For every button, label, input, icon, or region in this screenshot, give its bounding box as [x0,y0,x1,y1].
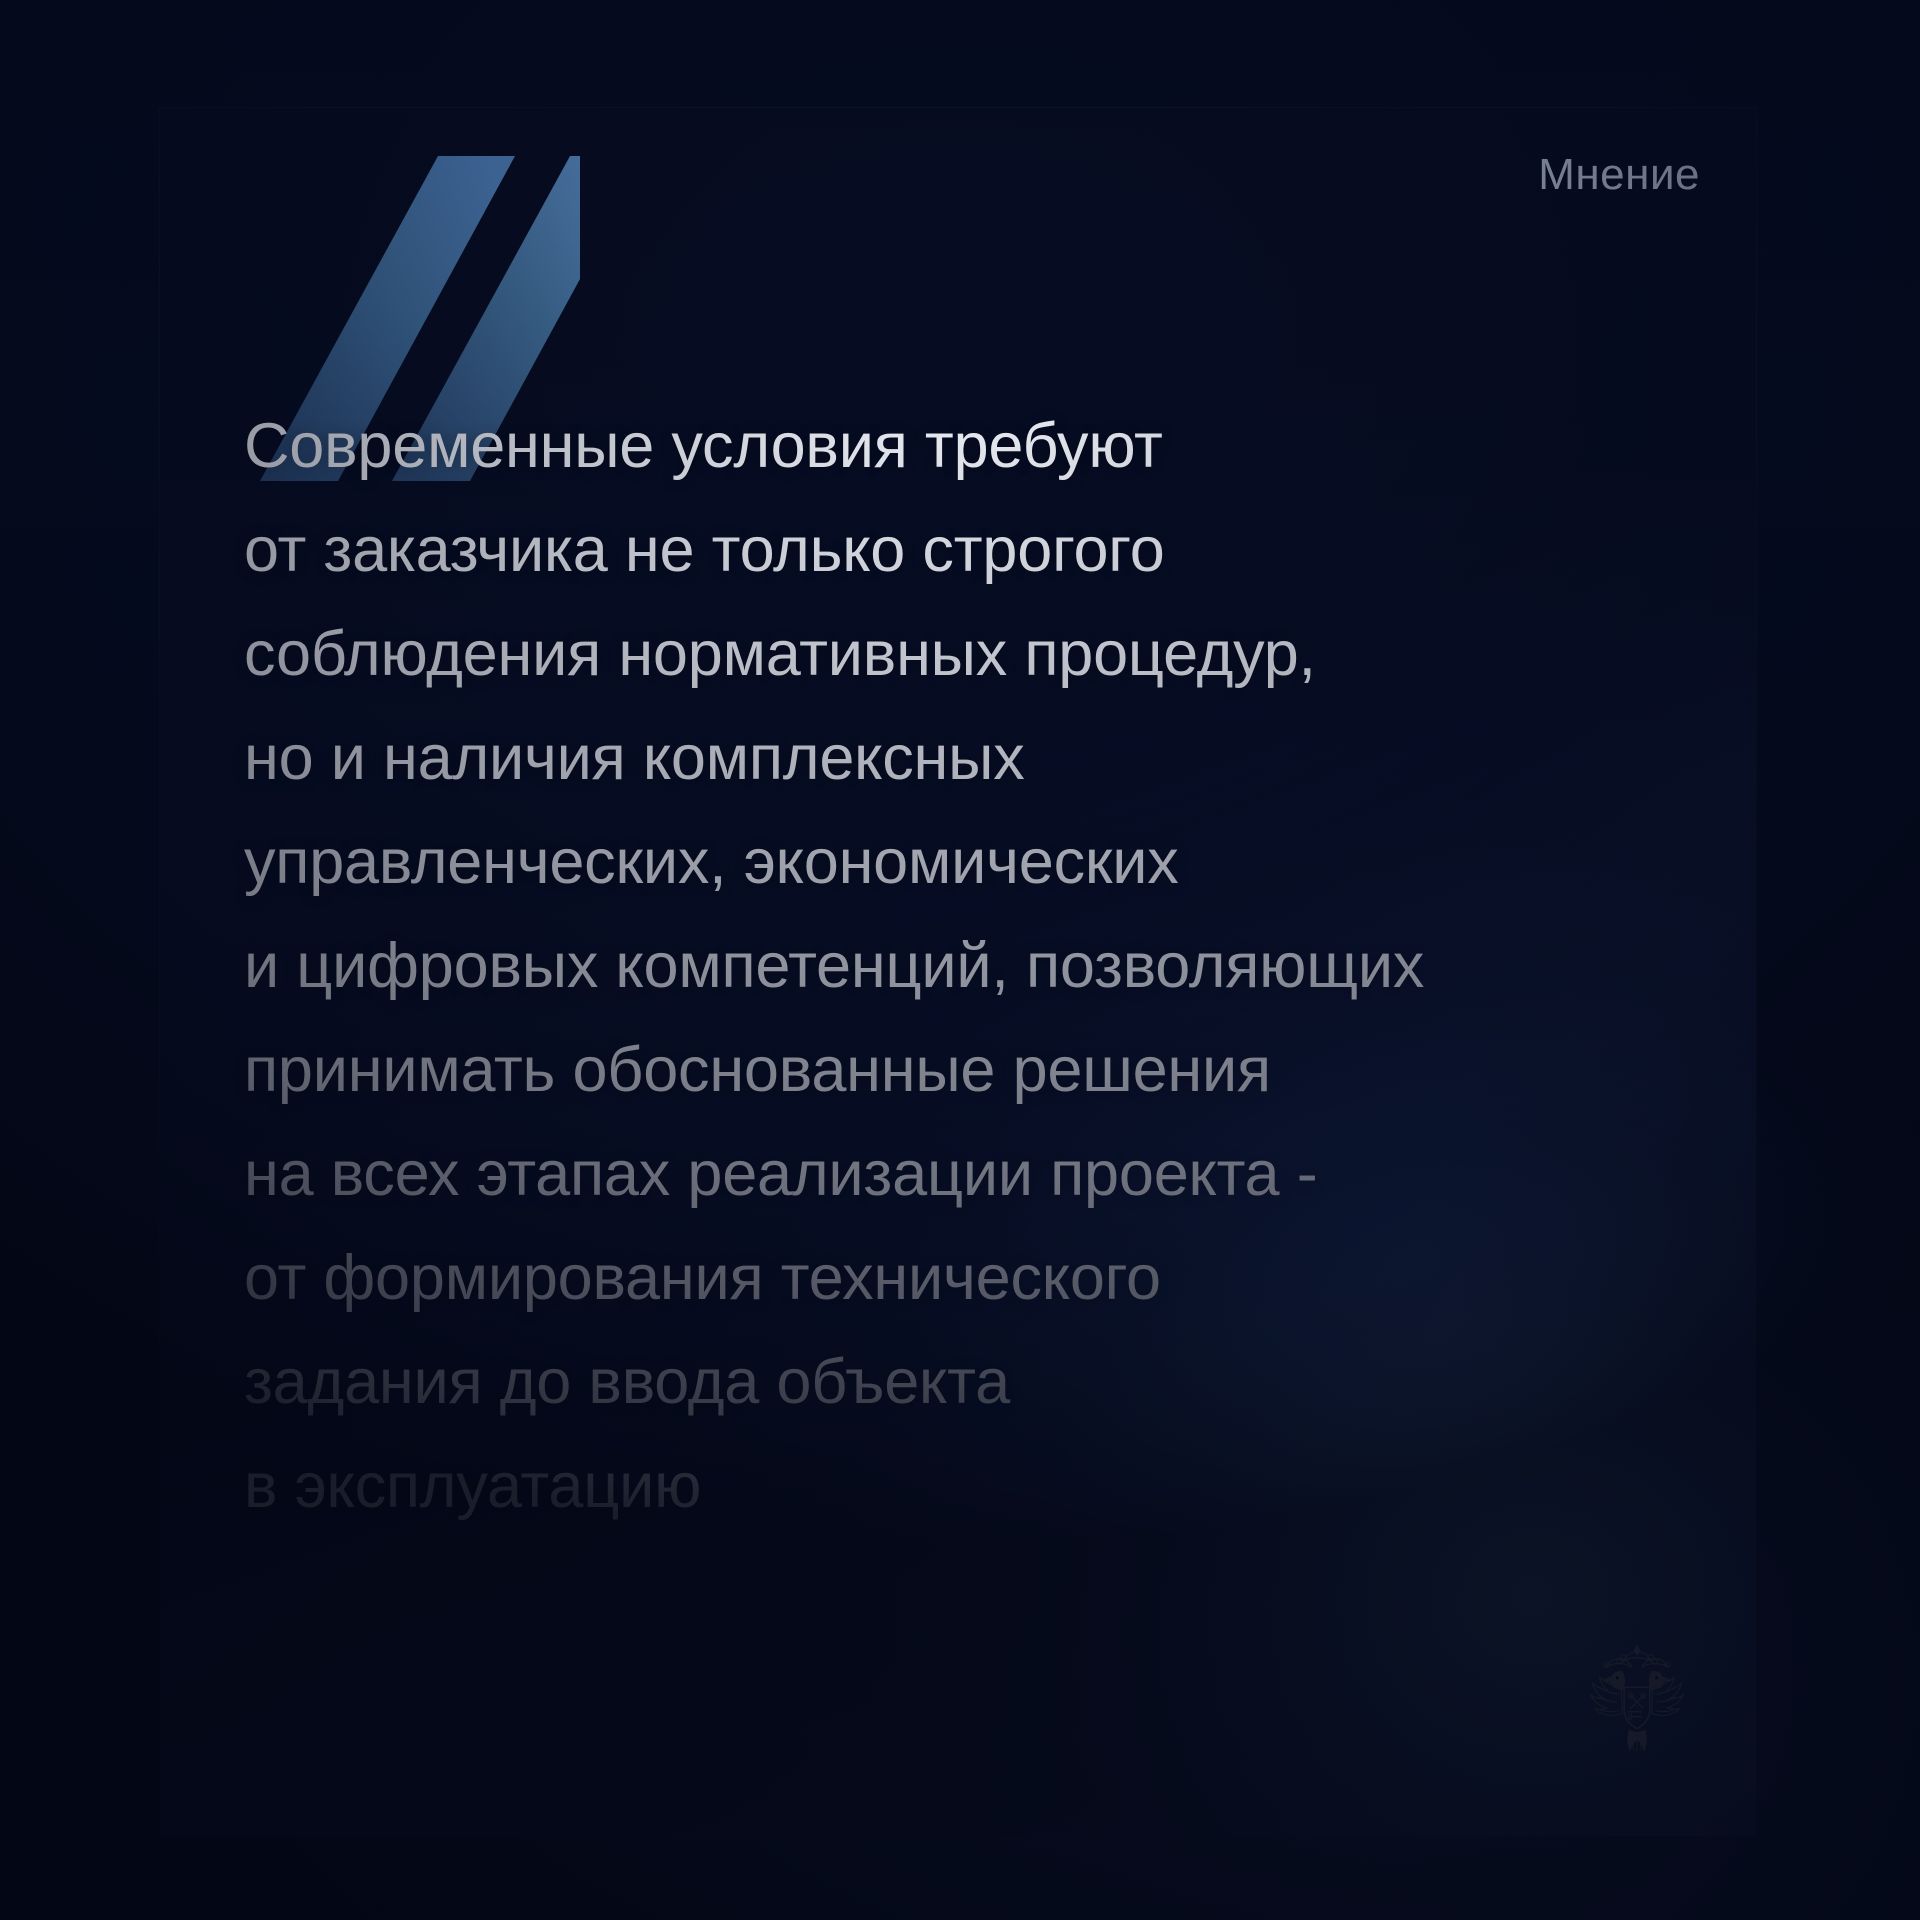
quote-text-block: Современные условия требуют от заказчика… [244,394,1644,1538]
quote-line: соблюдения нормативных процедур, [244,602,1644,706]
double-headed-eagle-icon [1578,1638,1696,1756]
quote-line: Современные условия требуют [244,394,1644,498]
section-kicker-label: Мнение [1538,150,1700,200]
quote-line: и цифровых компетенций, позволяющих [244,914,1644,1018]
quote-line: от формирования технического [244,1226,1644,1330]
quote-line: на всех этапах реализации проекта - [244,1122,1644,1226]
quote-line: принимать обоснованные решения [244,1018,1644,1122]
quote-line: управленческих, экономических [244,810,1644,914]
quote-line: в эксплуатацию [244,1434,1644,1538]
quote-card: Мнение [160,108,1756,1836]
quote-line: от заказчика не только строгого [244,498,1644,602]
quote-line: задания до ввода объекта [244,1330,1644,1434]
quote-line: но и наличия комплексных [244,706,1644,810]
slide-canvas: Мнение [0,0,1920,1920]
